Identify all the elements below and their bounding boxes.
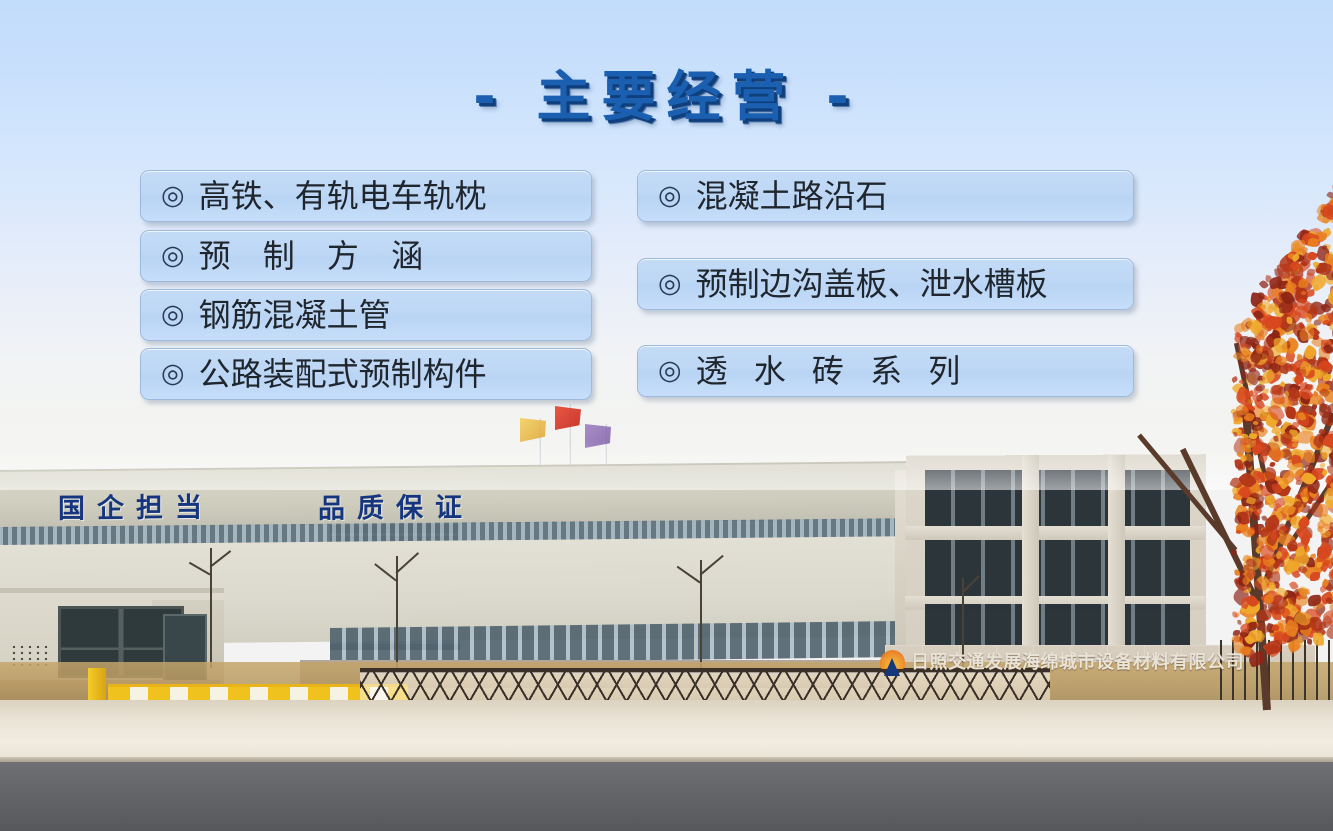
autumn-leaf — [1277, 510, 1288, 520]
autumn-leaf — [1282, 550, 1291, 559]
autumn-leaf — [1283, 563, 1292, 572]
autumn-leaf — [1269, 593, 1288, 612]
autumn-leaf — [1267, 604, 1280, 616]
autumn-leaf — [1249, 604, 1256, 611]
pavement — [0, 700, 1333, 760]
autumn-leaf — [1246, 526, 1256, 535]
autumn-leaf — [1320, 614, 1333, 628]
autumn-leaf — [1272, 624, 1280, 631]
autumn-leaf — [1321, 609, 1333, 626]
autumn-leaf — [1317, 504, 1330, 518]
autumn-leaf — [1319, 591, 1333, 606]
company-wall-signage: 日照交通发展海绵城市设备材料有限公司 — [878, 650, 1244, 676]
autumn-leaf — [1289, 580, 1299, 590]
autumn-leaf — [1298, 564, 1308, 574]
autumn-leaf — [1293, 545, 1306, 557]
autumn-leaf — [1279, 630, 1287, 637]
autumn-leaf — [1232, 611, 1237, 617]
autumn-leaf — [1295, 596, 1308, 607]
factory-sign-right: 品质保证 — [318, 494, 474, 522]
factory-sign-left: 国企担当 — [58, 494, 214, 522]
autumn-leaf — [1239, 597, 1250, 609]
autumn-leaf — [1279, 607, 1291, 619]
autumn-leaf — [1240, 489, 1250, 500]
service-item-right-3[interactable]: ◎ 透 水 砖 系 列 — [637, 345, 1134, 397]
autumn-leaf — [1272, 561, 1281, 570]
autumn-leaf — [1279, 525, 1288, 533]
autumn-leaf — [1283, 512, 1291, 521]
page-title-container: - 主要经营 - — [0, 70, 1333, 124]
autumn-leaf — [1264, 528, 1271, 535]
bullet-circle-icon: ◎ — [658, 270, 682, 297]
autumn-leaf — [1292, 500, 1305, 513]
autumn-leaf — [1294, 493, 1305, 503]
service-label: 透 水 砖 系 列 — [696, 355, 969, 387]
autumn-leaf — [1318, 511, 1333, 528]
autumn-leaf — [1289, 516, 1297, 525]
autumn-leaf — [1301, 545, 1311, 554]
autumn-leaf — [1272, 537, 1278, 544]
autumn-leaf — [1268, 623, 1285, 638]
autumn-leaf — [1316, 541, 1333, 560]
autumn-leaf — [1284, 512, 1297, 525]
autumn-leaf — [1291, 602, 1303, 613]
autumn-leaf — [1233, 630, 1241, 637]
autumn-leaf — [1269, 532, 1278, 541]
autumn-leaf — [1264, 494, 1275, 506]
autumn-leaf — [1304, 588, 1310, 595]
office-floor-band-1 — [905, 526, 1205, 540]
autumn-leaf — [1256, 574, 1270, 588]
autumn-leaf — [1287, 604, 1304, 620]
bullet-circle-icon: ◎ — [658, 357, 682, 384]
autumn-leaf — [1265, 538, 1279, 553]
autumn-leaf — [1316, 519, 1327, 530]
autumn-leaf — [1233, 515, 1243, 525]
autumn-leaf — [1246, 496, 1257, 506]
autumn-leaf — [1310, 597, 1325, 611]
autumn-leaf — [1296, 618, 1315, 638]
autumn-leaf — [1244, 490, 1251, 497]
autumn-leaf — [1256, 609, 1271, 622]
autumn-leaf — [1298, 588, 1307, 599]
autumn-leaf — [1269, 555, 1281, 567]
autumn-leaf — [1255, 546, 1263, 555]
autumn-leaf — [1287, 558, 1302, 574]
autumn-leaf — [1293, 605, 1301, 613]
autumn-leaf — [1316, 524, 1324, 532]
autumn-leaf — [1310, 572, 1321, 581]
autumn-leaf — [1288, 551, 1303, 566]
autumn-leaf — [1294, 613, 1304, 622]
autumn-leaf — [1275, 521, 1292, 537]
autumn-leaf — [1257, 540, 1265, 549]
autumn-leaf — [1290, 631, 1297, 637]
service-label: 钢筋混凝土管 — [199, 299, 391, 331]
autumn-leaf — [1319, 585, 1328, 594]
autumn-leaf — [1329, 570, 1333, 580]
autumn-leaf — [1326, 560, 1333, 569]
autumn-leaf — [1319, 561, 1330, 572]
autumn-leaf — [1259, 543, 1276, 561]
autumn-leaf — [1325, 592, 1333, 602]
autumn-leaf — [1252, 511, 1260, 520]
autumn-leaf — [1273, 551, 1283, 560]
autumn-leaf — [1266, 511, 1281, 527]
autumn-leaf — [1274, 585, 1288, 599]
autumn-leaf — [1278, 529, 1284, 536]
autumn-leaf — [1233, 492, 1244, 502]
autumn-leaf — [1288, 508, 1297, 518]
autumn-leaf — [1321, 533, 1330, 544]
autumn-leaf — [1251, 524, 1264, 535]
autumn-leaf — [1247, 496, 1264, 513]
service-label: 混凝土路沿石 — [696, 180, 888, 212]
autumn-leaf — [1277, 530, 1296, 549]
service-item-right-1[interactable]: ◎ 混凝土路沿石 — [637, 170, 1134, 222]
autumn-leaf — [1299, 533, 1312, 547]
autumn-leaf — [1279, 597, 1296, 614]
autumn-leaf — [1259, 527, 1270, 537]
autumn-leaf — [1247, 622, 1258, 631]
autumn-leaf — [1272, 610, 1282, 621]
autumn-leaf — [1265, 531, 1280, 546]
autumn-leaf — [1255, 501, 1264, 509]
autumn-leaf — [1273, 554, 1283, 565]
autumn-leaf — [1316, 497, 1323, 503]
company-name-text: 日照交通发展海绵城市设备材料有限公司 — [911, 654, 1244, 672]
autumn-leaf — [1324, 527, 1333, 539]
autumn-leaf — [1253, 575, 1271, 593]
autumn-leaf — [1242, 555, 1262, 573]
autumn-leaf — [1298, 547, 1307, 557]
autumn-leaf — [1316, 544, 1333, 560]
autumn-leaf — [1268, 596, 1275, 603]
autumn-leaf — [1282, 505, 1292, 514]
autumn-leaf — [1239, 570, 1247, 577]
autumn-leaf — [1262, 515, 1268, 522]
logo-mountain-shape — [884, 658, 900, 676]
autumn-leaf — [1239, 601, 1260, 621]
autumn-leaf — [1283, 494, 1291, 503]
autumn-leaf — [1301, 618, 1319, 638]
autumn-leaf — [1290, 491, 1310, 511]
service-item-right-2[interactable]: ◎ 预制边沟盖板、泄水槽板 — [637, 258, 1134, 310]
autumn-leaf — [1261, 552, 1274, 567]
autumn-leaf — [1262, 587, 1283, 607]
autumn-leaf — [1321, 578, 1330, 587]
autumn-leaf — [1266, 557, 1275, 566]
bullet-circle-icon: ◎ — [161, 182, 185, 209]
autumn-leaf — [1296, 495, 1307, 508]
autumn-leaf — [1321, 580, 1333, 593]
autumn-leaf — [1329, 603, 1333, 610]
autumn-leaf — [1265, 522, 1279, 537]
autumn-leaf — [1277, 618, 1291, 633]
autumn-leaf — [1328, 490, 1333, 496]
autumn-leaf — [1288, 595, 1297, 605]
autumn-leaf — [1301, 561, 1322, 582]
autumn-leaf — [1314, 626, 1326, 638]
service-item-left-3[interactable]: ◎ 钢筋混凝土管 — [140, 289, 592, 341]
autumn-leaf — [1282, 503, 1297, 517]
autumn-leaf — [1300, 515, 1309, 524]
autumn-leaf — [1261, 526, 1268, 533]
autumn-leaf — [1238, 620, 1243, 625]
autumn-leaf — [1244, 586, 1252, 593]
autumn-leaf — [1265, 562, 1281, 576]
autumn-leaf — [1295, 550, 1310, 565]
autumn-leaf — [1296, 617, 1311, 631]
autumn-leaf — [1263, 593, 1276, 605]
autumn-leaf — [1285, 504, 1301, 519]
autumn-leaf — [1245, 616, 1260, 631]
autumn-leaf — [1234, 578, 1240, 584]
autumn-leaf — [1311, 558, 1326, 574]
autumn-leaf — [1244, 567, 1258, 581]
autumn-leaf — [1264, 492, 1275, 505]
autumn-leaf — [1258, 528, 1265, 536]
office-window-row-3 — [925, 604, 1190, 646]
autumn-leaf — [1256, 554, 1273, 572]
autumn-leaf — [1265, 498, 1273, 505]
autumn-leaf — [1268, 582, 1276, 591]
autumn-leaf — [1234, 569, 1239, 575]
autumn-leaf — [1233, 577, 1245, 589]
autumn-leaf — [1320, 528, 1332, 540]
autumn-leaf — [1321, 536, 1333, 552]
autumn-leaf — [1262, 556, 1269, 563]
autumn-leaf — [1296, 515, 1312, 531]
autumn-leaf — [1290, 568, 1301, 579]
autumn-leaf — [1309, 553, 1316, 559]
autumn-leaf — [1317, 553, 1326, 561]
autumn-leaf — [1244, 600, 1260, 614]
autumn-leaf — [1281, 558, 1299, 576]
autumn-leaf — [1316, 546, 1330, 562]
autumn-leaf — [1307, 508, 1314, 515]
autumn-leaf — [1245, 557, 1258, 570]
autumn-leaf — [1288, 508, 1295, 514]
sun-mountain-logo-icon — [878, 650, 907, 676]
autumn-leaf — [1315, 562, 1322, 569]
autumn-leaf — [1289, 497, 1301, 509]
autumn-leaf — [1297, 619, 1315, 638]
autumn-leaf — [1277, 558, 1285, 567]
autumn-leaf — [1261, 603, 1268, 610]
poster-root: 国企担当 品质保证 日照交通发展海绵城市设备材料有限公司 — [0, 0, 1333, 831]
autumn-leaf — [1325, 597, 1333, 606]
autumn-leaf — [1261, 580, 1276, 596]
autumn-leaf — [1317, 552, 1332, 568]
autumn-leaf — [1303, 606, 1322, 625]
autumn-leaf — [1242, 554, 1252, 563]
autumn-leaf — [1280, 607, 1292, 620]
autumn-leaf — [1288, 604, 1299, 616]
autumn-leaf — [1300, 490, 1309, 500]
autumn-leaf — [1236, 529, 1243, 535]
autumn-leaf — [1267, 499, 1275, 508]
autumn-leaf — [1293, 609, 1313, 628]
bullet-circle-icon: ◎ — [161, 242, 185, 269]
autumn-leaf — [1271, 530, 1282, 539]
autumn-leaf — [1241, 575, 1252, 586]
autumn-leaf — [1253, 506, 1263, 516]
autumn-leaf — [1282, 619, 1300, 638]
autumn-leaf — [1255, 620, 1269, 635]
autumn-leaf — [1241, 524, 1256, 539]
autumn-leaf — [1313, 602, 1327, 616]
autumn-leaf — [1302, 496, 1309, 503]
autumn-leaf — [1265, 531, 1280, 544]
autumn-leaf — [1239, 623, 1250, 633]
autumn-leaf — [1230, 585, 1251, 606]
autumn-leaf — [1293, 500, 1303, 509]
autumn-leaf — [1286, 560, 1300, 572]
service-item-left-2[interactable]: ◎ 预 制 方 涵 — [140, 230, 592, 282]
service-label: 公路装配式预制构件 — [199, 358, 487, 390]
autumn-leaf — [1304, 538, 1311, 545]
bare-tree-3 — [700, 560, 702, 670]
autumn-leaf — [1272, 581, 1279, 589]
autumn-leaf — [1303, 537, 1310, 543]
bullet-circle-icon: ◎ — [658, 182, 682, 209]
autumn-leaf — [1243, 567, 1258, 583]
service-label: 预 制 方 涵 — [199, 240, 435, 272]
autumn-leaf — [1265, 533, 1280, 550]
autumn-leaf — [1300, 558, 1307, 565]
autumn-leaf — [1292, 588, 1301, 597]
autumn-leaf — [1242, 564, 1252, 573]
autumn-leaf — [1290, 611, 1309, 630]
service-label: 预制边沟盖板、泄水槽板 — [696, 268, 1048, 300]
page-title: - 主要经营 - — [473, 70, 859, 124]
autumn-leaf — [1263, 578, 1272, 588]
autumn-leaf — [1287, 542, 1298, 553]
factory-ground-windows — [330, 620, 944, 664]
autumn-leaf — [1258, 558, 1271, 573]
autumn-leaf — [1265, 622, 1275, 633]
autumn-leaf — [1307, 594, 1321, 606]
autumn-leaf — [1232, 504, 1250, 523]
autumn-leaf — [1322, 522, 1331, 530]
autumn-leaf — [1296, 525, 1313, 543]
autumn-leaf — [1242, 510, 1247, 516]
autumn-leaf — [1309, 617, 1322, 632]
autumn-leaf — [1234, 612, 1241, 618]
autumn-leaf — [1262, 513, 1281, 532]
autumn-leaf — [1254, 555, 1267, 568]
autumn-leaf — [1245, 556, 1252, 563]
autumn-leaf — [1292, 551, 1310, 568]
autumn-leaf — [1251, 492, 1259, 500]
service-item-left-1[interactable]: ◎ 高铁、有轨电车轨枕 — [140, 170, 592, 222]
autumn-leaf — [1281, 495, 1298, 512]
autumn-leaf — [1240, 491, 1257, 507]
autumn-leaf — [1325, 498, 1333, 510]
autumn-leaf — [1303, 492, 1315, 505]
autumn-leaf — [1246, 490, 1266, 509]
autumn-leaf — [1294, 541, 1307, 552]
autumn-leaf — [1268, 601, 1286, 620]
autumn-leaf — [1237, 511, 1250, 526]
autumn-leaf — [1275, 546, 1290, 562]
bullet-circle-icon: ◎ — [161, 360, 185, 387]
autumn-leaf — [1281, 589, 1298, 607]
autumn-leaf — [1297, 584, 1310, 597]
autumn-leaf — [1285, 616, 1294, 627]
autumn-leaf — [1285, 623, 1292, 629]
autumn-leaf — [1267, 599, 1279, 613]
autumn-leaf — [1245, 510, 1252, 518]
autumn-leaf — [1233, 574, 1251, 593]
autumn-leaf — [1297, 620, 1310, 635]
autumn-leaf — [1326, 565, 1333, 583]
autumn-leaf — [1324, 578, 1333, 591]
autumn-leaf — [1272, 506, 1285, 518]
autumn-leaf — [1266, 571, 1273, 579]
autumn-leaf — [1328, 526, 1333, 534]
autumn-leaf — [1300, 504, 1311, 514]
autumn-leaf — [1247, 507, 1254, 515]
bullet-circle-icon: ◎ — [161, 301, 185, 328]
service-label: 高铁、有轨电车轨枕 — [199, 180, 487, 212]
service-item-left-4[interactable]: ◎ 公路装配式预制构件 — [140, 348, 592, 400]
autumn-leaf — [1326, 500, 1333, 517]
autumn-leaf — [1305, 557, 1314, 568]
autumn-leaf — [1285, 539, 1299, 552]
autumn-leaf — [1293, 614, 1310, 631]
autumn-leaf — [1273, 503, 1283, 514]
autumn-leaf — [1244, 564, 1249, 570]
autumn-leaf — [1277, 507, 1287, 515]
autumn-leaf — [1244, 593, 1259, 609]
autumn-leaf — [1324, 625, 1333, 640]
autumn-leaf — [1290, 515, 1302, 529]
autumn-leaf — [1236, 523, 1248, 534]
autumn-leaf — [1273, 511, 1283, 522]
autumn-leaf — [1275, 497, 1287, 508]
autumn-leaf — [1262, 526, 1268, 533]
autumn-leaf — [1299, 621, 1310, 631]
autumn-leaf — [1283, 555, 1297, 568]
autumn-leaf — [1293, 588, 1306, 601]
autumn-leaf — [1264, 571, 1281, 586]
autumn-leaf — [1255, 533, 1270, 547]
autumn-leaf — [1294, 560, 1301, 567]
autumn-leaf — [1246, 618, 1253, 626]
autumn-leaf — [1239, 569, 1254, 584]
autumn-leaf — [1326, 551, 1333, 566]
autumn-leaf — [1310, 617, 1318, 625]
autumn-leaf — [1318, 621, 1328, 630]
autumn-leaf — [1310, 502, 1324, 518]
asphalt-road — [0, 762, 1333, 831]
autumn-leaf — [1241, 605, 1250, 613]
autumn-leaf — [1280, 510, 1289, 519]
autumn-leaf — [1261, 591, 1276, 606]
autumn-leaf — [1274, 605, 1285, 615]
autumn-leaf — [1236, 574, 1249, 588]
autumn-leaf — [1269, 496, 1277, 504]
autumn-leaf — [1302, 527, 1312, 539]
autumn-leaf — [1323, 560, 1329, 565]
autumn-leaf — [1286, 622, 1298, 634]
autumn-leaf — [1317, 562, 1324, 570]
autumn-leaf — [1328, 620, 1333, 626]
autumn-leaf — [1231, 550, 1238, 557]
